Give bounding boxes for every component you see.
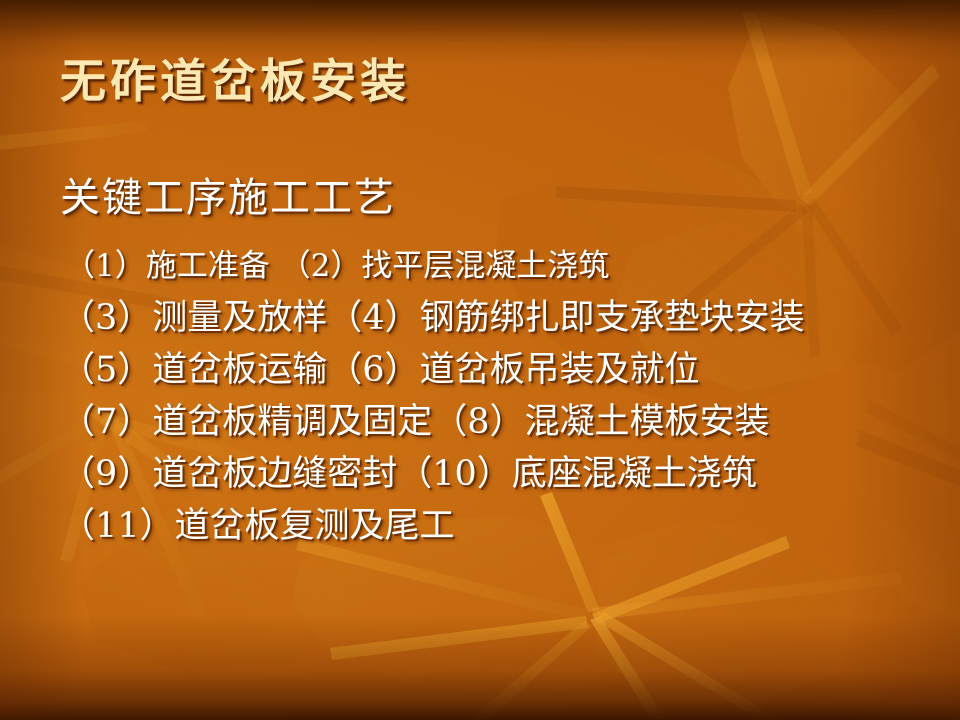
slide-content: 无砟道岔板安装 关键工序施工工艺 （1）施工准备 （2）找平层混凝土浇筑 （3）…	[0, 0, 960, 720]
list-item: （3）测量及放样（4）钢筋绑扎即支承垫块安装	[60, 292, 940, 344]
slide-subtitle: 关键工序施工工艺	[60, 176, 396, 220]
list-item: （9）道岔板边缝密封（10）底座混凝土浇筑	[60, 448, 940, 500]
process-step-list: （1）施工准备 （2）找平层混凝土浇筑 （3）测量及放样（4）钢筋绑扎即支承垫块…	[60, 240, 940, 552]
list-item: （7）道岔板精调及固定（8）混凝土模板安装	[60, 396, 940, 448]
slide-title: 无砟道岔板安装	[60, 56, 410, 107]
presentation-slide: 无砟道岔板安装 关键工序施工工艺 （1）施工准备 （2）找平层混凝土浇筑 （3）…	[0, 0, 960, 720]
list-item: （1）施工准备 （2）找平层混凝土浇筑	[60, 240, 940, 292]
list-item: （11）道岔板复测及尾工	[60, 500, 940, 552]
list-item: （5）道岔板运输（6）道岔板吊装及就位	[60, 344, 940, 396]
